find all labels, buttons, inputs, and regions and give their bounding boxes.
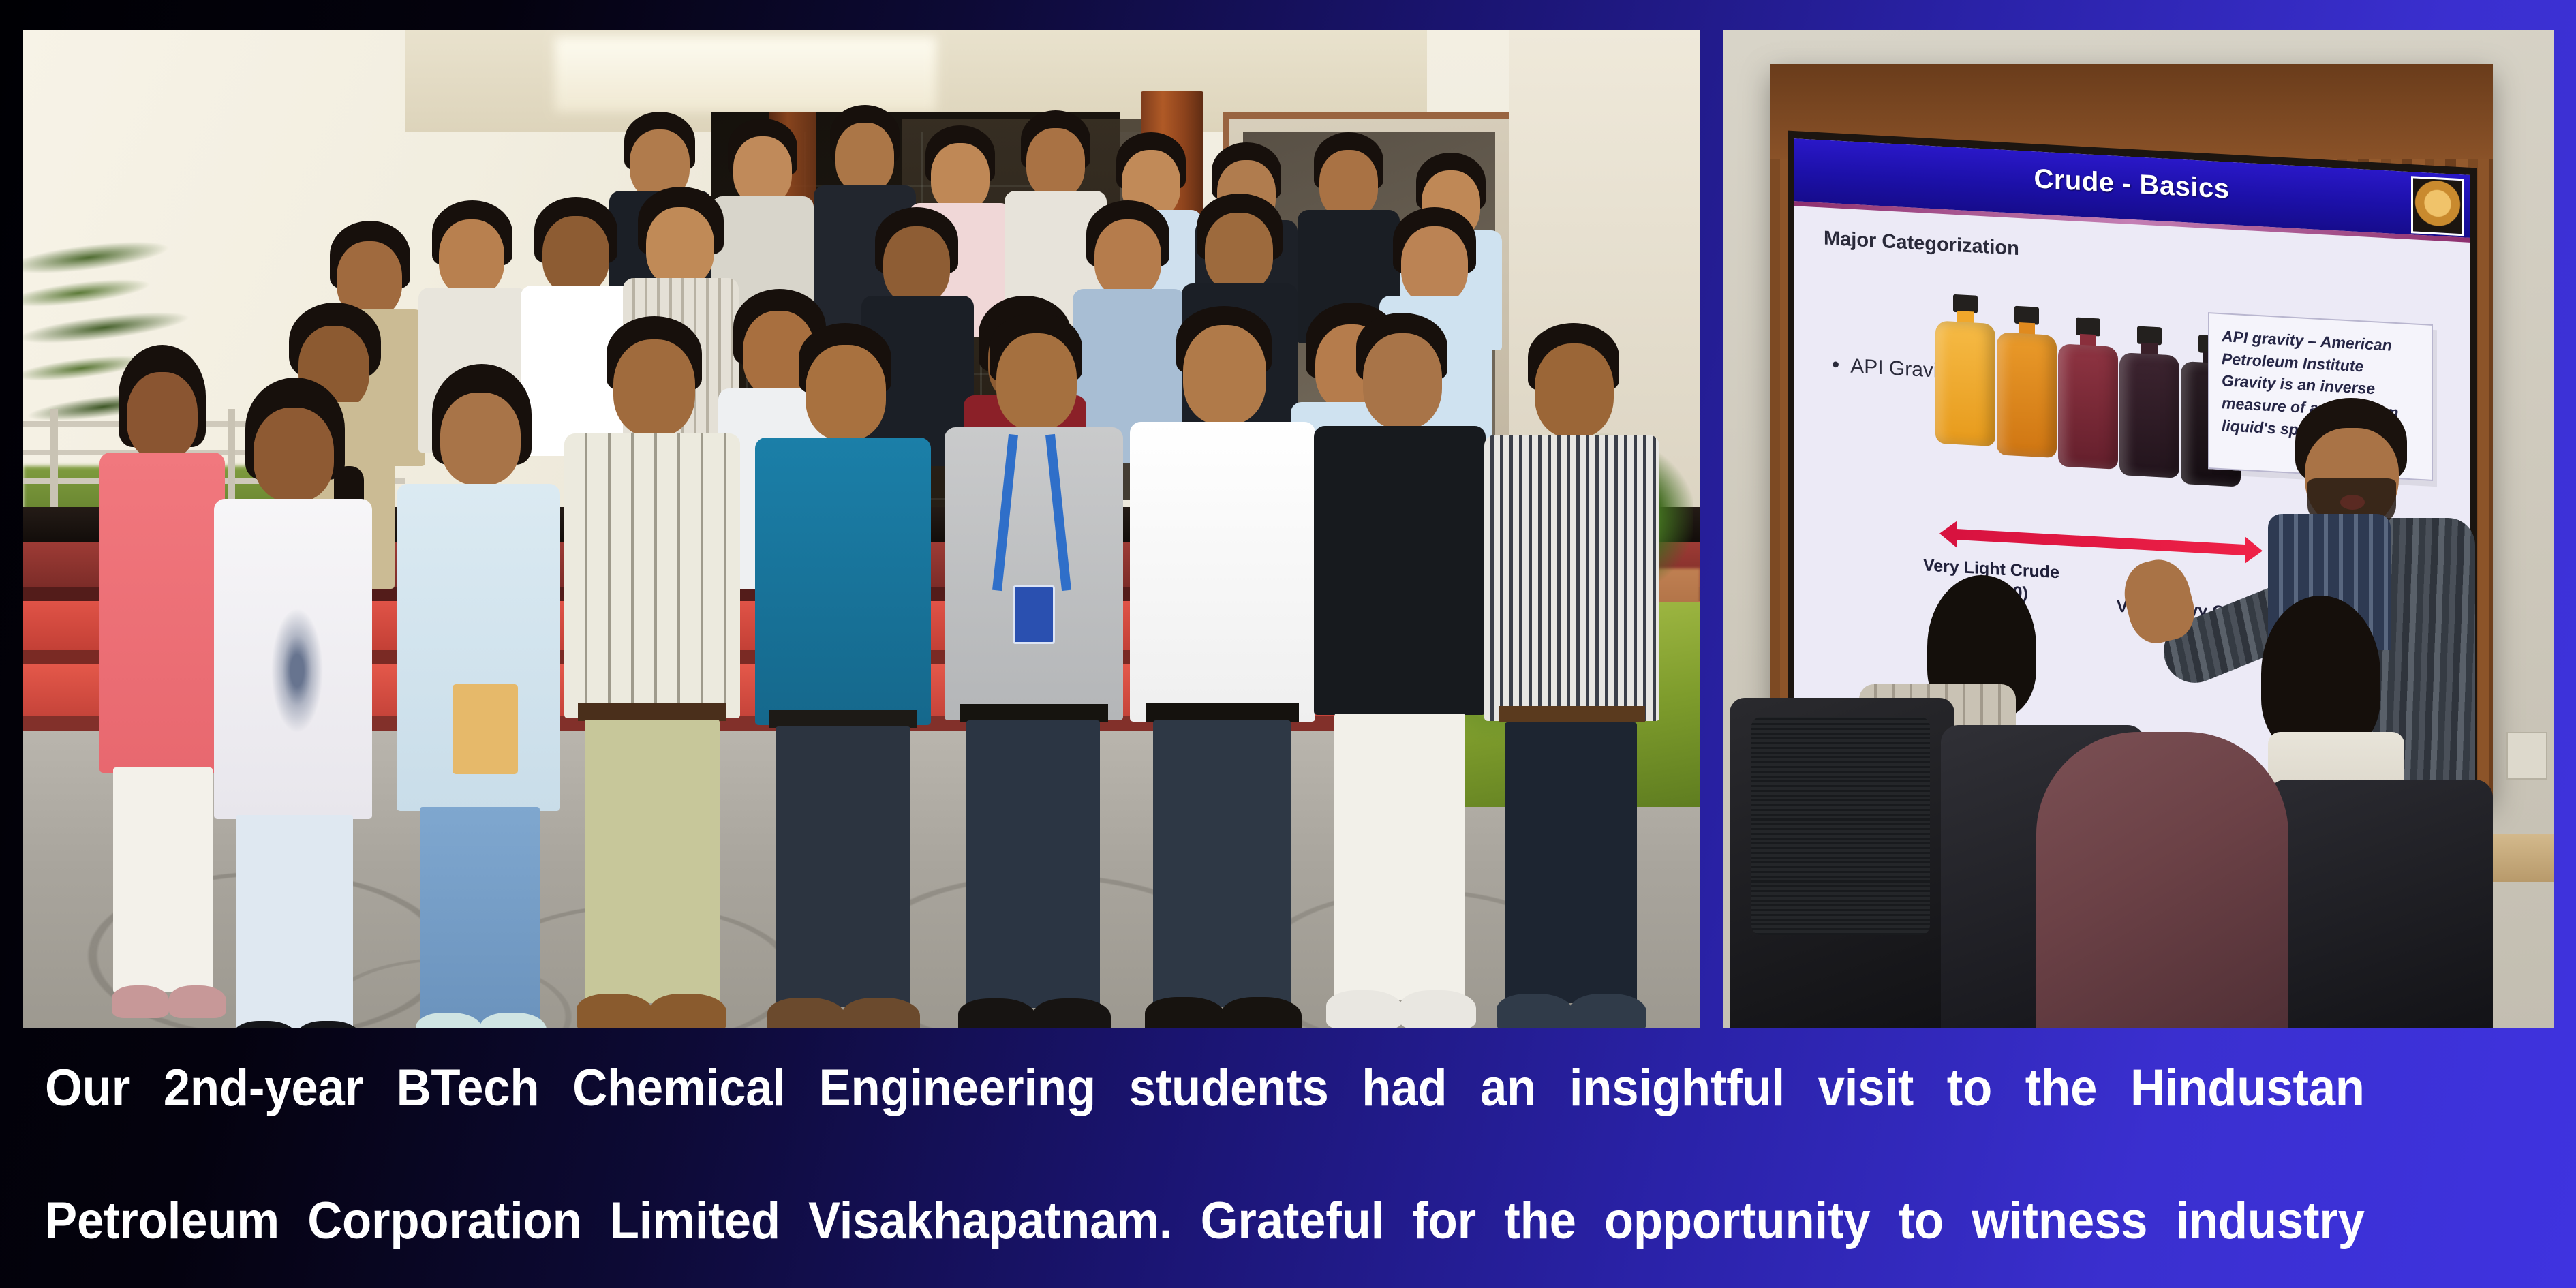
chair-mesh-back	[1751, 717, 1930, 935]
embroidery-motif	[258, 575, 337, 766]
person-front-row	[1482, 323, 1662, 1028]
crude-sample-bottle	[2058, 316, 2118, 320]
crude-sample-bottle	[1997, 305, 2057, 308]
person-front-row	[752, 323, 935, 1028]
ceiling-light	[555, 37, 936, 112]
person-front-row	[562, 316, 744, 1028]
crude-sample-bottle	[1935, 293, 1995, 296]
crude-sample-bottle	[2119, 325, 2179, 328]
person-front-row	[1127, 306, 1318, 1028]
wall-socket	[2506, 732, 2547, 780]
id-badge	[1013, 585, 1055, 644]
person-front-row	[207, 378, 381, 1028]
person-front-row	[390, 364, 568, 1028]
office-chair	[2268, 780, 2493, 1028]
seated-attendee-head	[2261, 596, 2380, 752]
person-front-row	[942, 313, 1127, 1028]
belt	[1499, 706, 1645, 722]
belt	[960, 704, 1108, 722]
notebook	[453, 684, 518, 774]
caption-line: Petroleum Corporation Limited Visakhapat…	[45, 1188, 2365, 1288]
person-front-row	[1311, 313, 1488, 1028]
maroon-chair	[2036, 732, 2288, 1028]
group-photo	[23, 30, 1700, 1028]
gravity-scale-arrow	[1954, 529, 2248, 555]
presentation-photo: Crude - Basics Major Categorization API …	[1723, 30, 2554, 1028]
poster-canvas: Crude - Basics Major Categorization API …	[0, 0, 2576, 1288]
belt	[578, 703, 726, 721]
caption-line: Our 2nd-year BTech Chemical Engineering …	[45, 1055, 2365, 1188]
belt	[769, 710, 917, 728]
presenter-mouth	[2340, 495, 2365, 510]
belt	[1146, 703, 1299, 722]
company-logo-icon	[2411, 176, 2464, 236]
caption-text: Our 2nd-year BTech Chemical Engineering …	[45, 1055, 2365, 1273]
slide-subheading: Major Categorization	[1824, 228, 2019, 261]
